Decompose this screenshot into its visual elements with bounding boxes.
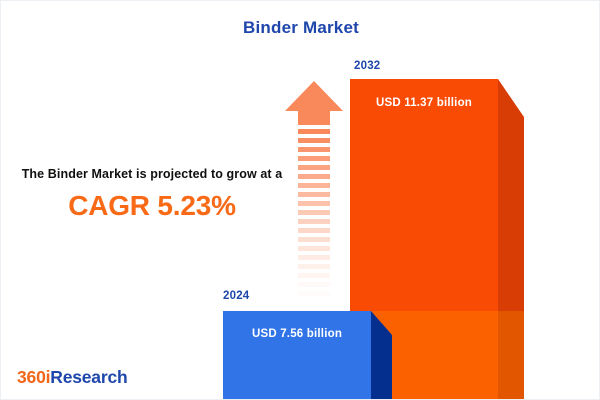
page-title: Binder Market — [1, 18, 600, 38]
arrow-head-icon — [285, 81, 343, 111]
arrow-stripe — [298, 291, 330, 296]
arrow-stripe — [298, 165, 330, 170]
company-logo[interactable]: 360iResearch — [17, 367, 127, 388]
arrow-stripe — [298, 282, 330, 287]
caption-text: The Binder Market is projected to grow a… — [21, 166, 283, 183]
bar-label-2032: 2032 — [354, 60, 380, 72]
cagr-value: CAGR 5.23% — [21, 190, 283, 222]
arrow-stripe — [298, 273, 330, 278]
arrow-stripe — [298, 237, 330, 242]
arrow-stripe — [298, 219, 330, 224]
arrow-stripe — [298, 210, 330, 215]
growth-arrow-up-icon — [285, 81, 343, 295]
arrow-stripe — [298, 147, 330, 152]
logo-text-research: Research — [50, 367, 127, 387]
bar-2032-side-face — [498, 79, 524, 311]
bar-value-2032: USD 11.37 billion — [350, 97, 498, 109]
arrow-stripe — [298, 255, 330, 260]
logo-text-360i: 360i — [17, 367, 50, 387]
bar-2024-front-face — [223, 311, 371, 400]
arrow-stripe — [298, 174, 330, 179]
bar-2032-front-face — [350, 79, 498, 311]
arrow-neck — [298, 111, 330, 125]
arrow-stripe — [298, 138, 330, 143]
caption-block: The Binder Market is projected to grow a… — [21, 166, 283, 222]
bar-value-2024: USD 7.56 billion — [223, 328, 371, 340]
arrow-stripe — [298, 156, 330, 161]
arrow-stripe — [298, 246, 330, 251]
arrow-stripe — [298, 201, 330, 206]
bar-2032-side-face-lower — [498, 311, 524, 400]
bar-label-2024: 2024 — [223, 290, 249, 302]
arrow-stripe — [298, 264, 330, 269]
arrow-stripe — [298, 129, 330, 134]
arrow-stripe — [298, 192, 330, 197]
infographic-canvas: Binder Market The Binder Market is proje… — [0, 0, 600, 400]
arrow-stripe — [298, 183, 330, 188]
arrow-stripe — [298, 228, 330, 233]
